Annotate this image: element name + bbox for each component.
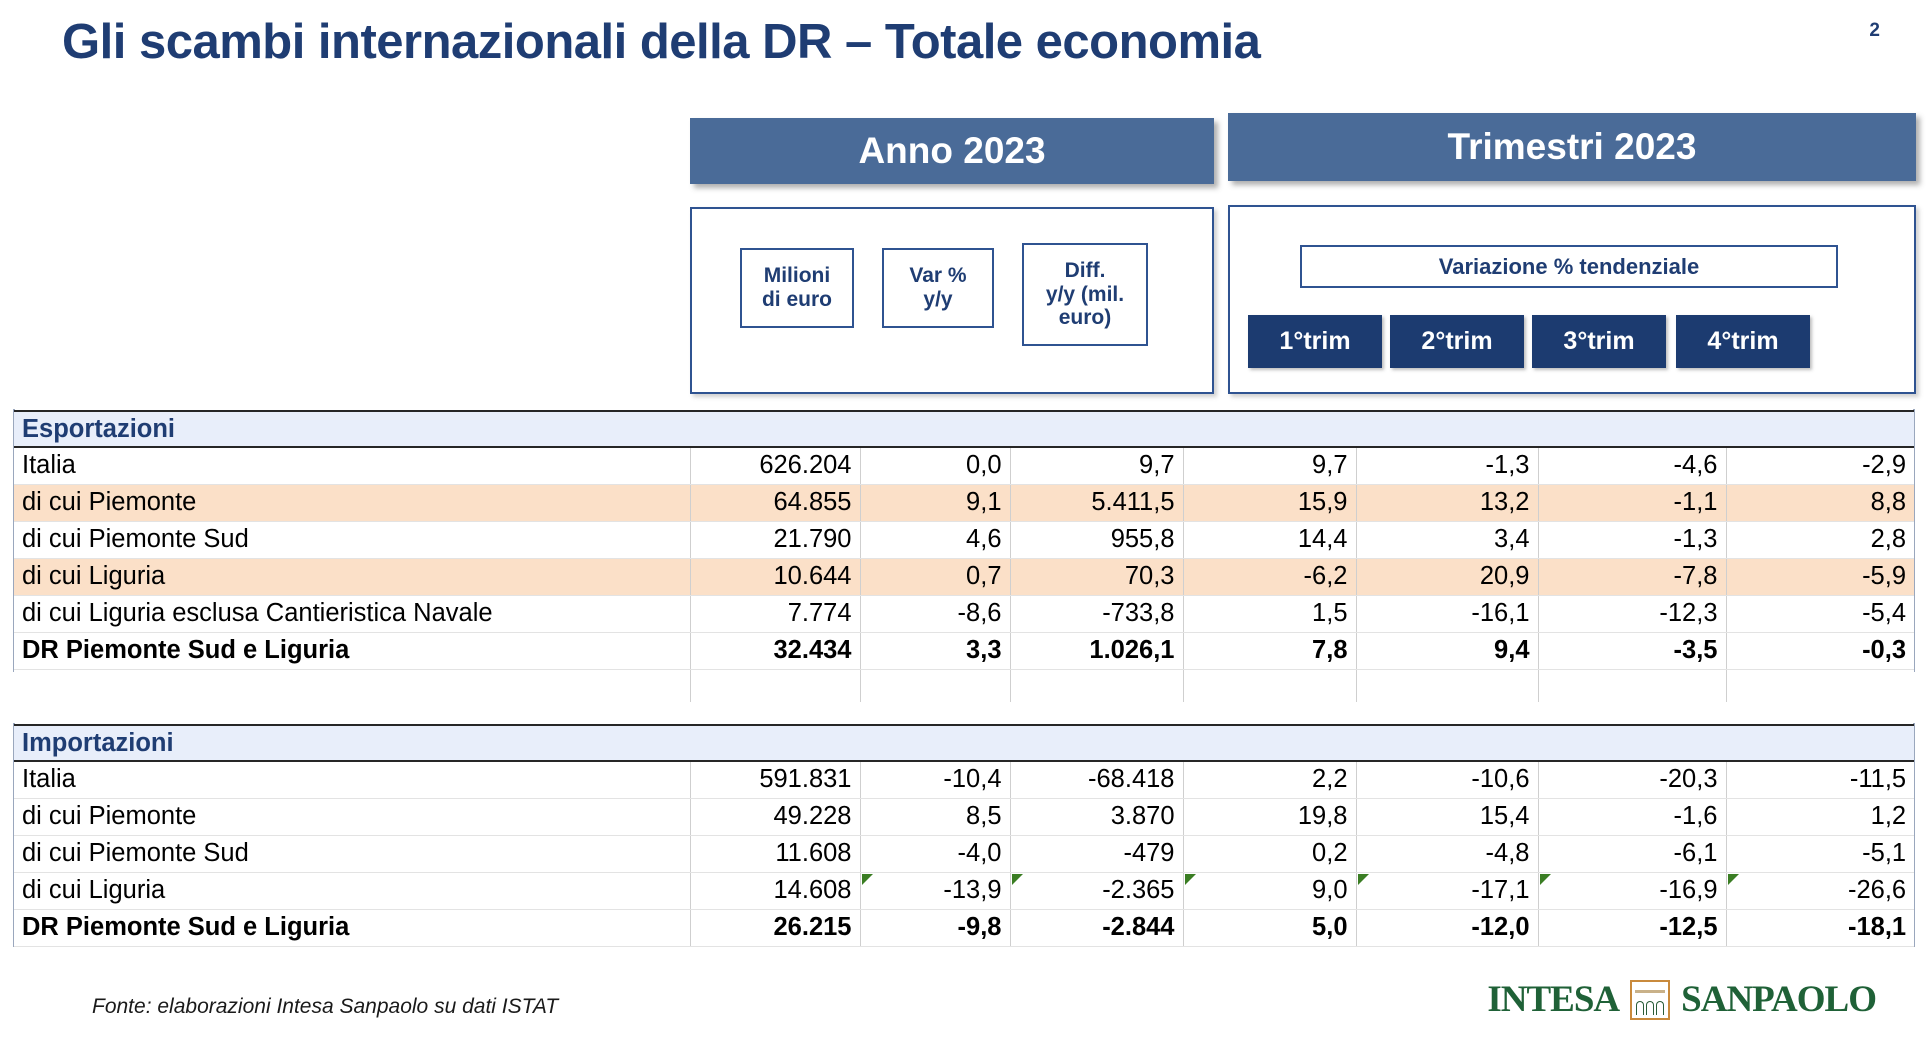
row-value: 9,7 <box>1183 447 1356 484</box>
row-value: 70,3 <box>1010 558 1183 595</box>
row-value <box>1010 669 1183 702</box>
row-value <box>860 669 1010 702</box>
row-value: -5,4 <box>1726 595 1914 632</box>
row-label: di cui Piemonte <box>14 484 690 521</box>
row-value: 13,2 <box>1356 484 1538 521</box>
logo-word-sanpaolo: SANPAOLO <box>1681 978 1876 1021</box>
row-value: -26,6 <box>1726 872 1914 909</box>
logo-arches-emblem <box>1630 980 1670 1020</box>
row-value: 9,7 <box>1010 447 1183 484</box>
table-esportazioni: EsportazioniItalia626.2040,09,79,7-1,3-4… <box>14 410 1914 702</box>
row-value: -68.418 <box>1010 761 1183 798</box>
section-title: Importazioni <box>14 725 1914 761</box>
row-value: 9,1 <box>860 484 1010 521</box>
row-label: Italia <box>14 761 690 798</box>
row-value: 15,4 <box>1356 798 1538 835</box>
table-row: di cui Liguria14.608-13,9-2.3659,0-17,1-… <box>14 872 1914 909</box>
row-value: -2.365 <box>1010 872 1183 909</box>
row-label: di cui Piemonte Sud <box>14 521 690 558</box>
row-value: 955,8 <box>1010 521 1183 558</box>
row-value: -18,1 <box>1726 909 1914 946</box>
row-value: 49.228 <box>690 798 860 835</box>
row-value: 9,4 <box>1356 632 1538 669</box>
row-value: -0,3 <box>1726 632 1914 669</box>
error-marker-icon <box>1185 874 1196 885</box>
row-value: 32.434 <box>690 632 860 669</box>
chip-milioni-di-euro[interactable]: Milioni di euro <box>740 248 854 328</box>
row-value: -16,9 <box>1538 872 1726 909</box>
row-value: 64.855 <box>690 484 860 521</box>
table-row: di cui Liguria esclusa Cantieristica Nav… <box>14 595 1914 632</box>
row-value: 3,4 <box>1356 521 1538 558</box>
row-value: 11.608 <box>690 835 860 872</box>
table-spacer-row <box>14 669 1914 702</box>
section-header-row: Importazioni <box>14 725 1914 761</box>
row-label: di cui Liguria <box>14 558 690 595</box>
chip-quarter-4[interactable]: 4°trim <box>1676 315 1810 368</box>
chip-var-percent-yy[interactable]: Var % y/y <box>882 248 994 328</box>
chip-varpct-line2: y/y <box>923 288 952 311</box>
row-value: 10.644 <box>690 558 860 595</box>
row-value: -1,1 <box>1538 484 1726 521</box>
chip-variazione-tendenziale[interactable]: Variazione % tendenziale <box>1300 245 1838 288</box>
row-value: 19,8 <box>1183 798 1356 835</box>
row-label: Italia <box>14 447 690 484</box>
row-label: DR Piemonte Sud e Liguria <box>14 632 690 669</box>
chip-milioni-line1: Milioni <box>764 264 831 287</box>
row-value: -13,9 <box>860 872 1010 909</box>
chip-milioni-line2: di euro <box>762 288 832 311</box>
logo-word-intesa: INTESA <box>1487 978 1619 1021</box>
section-header-row: Esportazioni <box>14 411 1914 447</box>
table-row: di cui Piemonte64.8559,15.411,515,913,2-… <box>14 484 1914 521</box>
row-value: 626.204 <box>690 447 860 484</box>
chip-diff-line3: euro) <box>1059 306 1112 329</box>
row-value: -8,6 <box>860 595 1010 632</box>
source-note: Fonte: elaborazioni Intesa Sanpaolo su d… <box>92 995 558 1019</box>
section-title: Esportazioni <box>14 411 1914 447</box>
row-value: 14.608 <box>690 872 860 909</box>
row-value: 15,9 <box>1183 484 1356 521</box>
row-value: -6,2 <box>1183 558 1356 595</box>
row-value: 7,8 <box>1183 632 1356 669</box>
table-row: di cui Piemonte Sud21.7904,6955,814,43,4… <box>14 521 1914 558</box>
row-value: 5.411,5 <box>1010 484 1183 521</box>
row-value <box>1726 669 1914 702</box>
row-value: -16,1 <box>1356 595 1538 632</box>
table-importazioni-body: ImportazioniItalia591.831-10,4-68.4182,2… <box>14 725 1914 946</box>
row-value: -479 <box>1010 835 1183 872</box>
chip-quarter-1[interactable]: 1°trim <box>1248 315 1382 368</box>
table-row: Italia591.831-10,4-68.4182,2-10,6-20,3-1… <box>14 761 1914 798</box>
row-label: di cui Piemonte <box>14 798 690 835</box>
row-value: -3,5 <box>1538 632 1726 669</box>
table-row: di cui Liguria10.6440,770,3-6,220,9-7,8-… <box>14 558 1914 595</box>
row-label <box>14 669 690 702</box>
row-value: 21.790 <box>690 521 860 558</box>
error-marker-icon <box>862 874 873 885</box>
row-value: 0,2 <box>1183 835 1356 872</box>
row-value: -1,3 <box>1356 447 1538 484</box>
error-marker-icon <box>1540 874 1551 885</box>
row-value: 26.215 <box>690 909 860 946</box>
row-value: 8,8 <box>1726 484 1914 521</box>
row-value: -1,6 <box>1538 798 1726 835</box>
row-value: 7.774 <box>690 595 860 632</box>
row-value: -2,9 <box>1726 447 1914 484</box>
row-label: di cui Liguria <box>14 872 690 909</box>
page-title: Gli scambi internazionali della DR – Tot… <box>62 14 1762 70</box>
row-value: -733,8 <box>1010 595 1183 632</box>
row-value: 591.831 <box>690 761 860 798</box>
error-marker-icon <box>1358 874 1369 885</box>
row-value: -17,1 <box>1356 872 1538 909</box>
row-value: -10,4 <box>860 761 1010 798</box>
row-value: 0,0 <box>860 447 1010 484</box>
chip-varpct-line1: Var % <box>909 264 966 287</box>
row-value: 14,4 <box>1183 521 1356 558</box>
row-value: -6,1 <box>1538 835 1726 872</box>
chip-diff-yy-mil-euro[interactable]: Diff. y/y (mil. euro) <box>1022 243 1148 346</box>
table-importazioni: ImportazioniItalia591.831-10,4-68.4182,2… <box>14 724 1914 947</box>
row-value: -2.844 <box>1010 909 1183 946</box>
row-value <box>1183 669 1356 702</box>
row-value: -5,1 <box>1726 835 1914 872</box>
row-value: 2,2 <box>1183 761 1356 798</box>
row-value: 8,5 <box>860 798 1010 835</box>
table-row: DR Piemonte Sud e Liguria32.4343,31.026,… <box>14 632 1914 669</box>
error-marker-icon <box>1728 874 1739 885</box>
chip-diff-line1: Diff. <box>1065 259 1106 282</box>
chip-quarter-2[interactable]: 2°trim <box>1390 315 1524 368</box>
table-row: di cui Piemonte49.2288,53.87019,815,4-1,… <box>14 798 1914 835</box>
trimestri-group-banner: Trimestri 2023 <box>1228 113 1916 181</box>
row-value: 5,0 <box>1183 909 1356 946</box>
anno-group-banner: Anno 2023 <box>690 118 1214 184</box>
table-row: di cui Piemonte Sud11.608-4,0-4790,2-4,8… <box>14 835 1914 872</box>
page-number: 2 <box>1869 20 1880 42</box>
row-value: 20,9 <box>1356 558 1538 595</box>
row-value: 0,7 <box>860 558 1010 595</box>
table-row: DR Piemonte Sud e Liguria26.215-9,8-2.84… <box>14 909 1914 946</box>
row-value <box>1538 669 1726 702</box>
row-value: -12,3 <box>1538 595 1726 632</box>
row-value: -12,0 <box>1356 909 1538 946</box>
table-row: Italia626.2040,09,79,7-1,3-4,6-2,9 <box>14 447 1914 484</box>
row-value: 1.026,1 <box>1010 632 1183 669</box>
row-value: -11,5 <box>1726 761 1914 798</box>
row-value <box>690 669 860 702</box>
table-esportazioni-body: EsportazioniItalia626.2040,09,79,7-1,3-4… <box>14 411 1914 702</box>
row-value: -20,3 <box>1538 761 1726 798</box>
row-value: 9,0 <box>1183 872 1356 909</box>
error-marker-icon <box>1012 874 1023 885</box>
row-value: 4,6 <box>860 521 1010 558</box>
row-value: 1,5 <box>1183 595 1356 632</box>
row-value <box>1356 669 1538 702</box>
row-label: DR Piemonte Sud e Liguria <box>14 909 690 946</box>
chip-quarter-3[interactable]: 3°trim <box>1532 315 1666 368</box>
row-label: di cui Liguria esclusa Cantieristica Nav… <box>14 595 690 632</box>
row-value: -4,8 <box>1356 835 1538 872</box>
row-value: -10,6 <box>1356 761 1538 798</box>
row-value: -4,6 <box>1538 447 1726 484</box>
intesa-sanpaolo-logo: INTESA SANPAOLO <box>1487 978 1876 1021</box>
row-value: 2,8 <box>1726 521 1914 558</box>
row-value: -1,3 <box>1538 521 1726 558</box>
chip-diff-line2: y/y (mil. <box>1046 283 1124 306</box>
row-label: di cui Piemonte Sud <box>14 835 690 872</box>
row-value: -9,8 <box>860 909 1010 946</box>
row-value: -7,8 <box>1538 558 1726 595</box>
row-value: -5,9 <box>1726 558 1914 595</box>
row-value: -4,0 <box>860 835 1010 872</box>
row-value: 3.870 <box>1010 798 1183 835</box>
row-value: 3,3 <box>860 632 1010 669</box>
row-value: -12,5 <box>1538 909 1726 946</box>
row-value: 1,2 <box>1726 798 1914 835</box>
